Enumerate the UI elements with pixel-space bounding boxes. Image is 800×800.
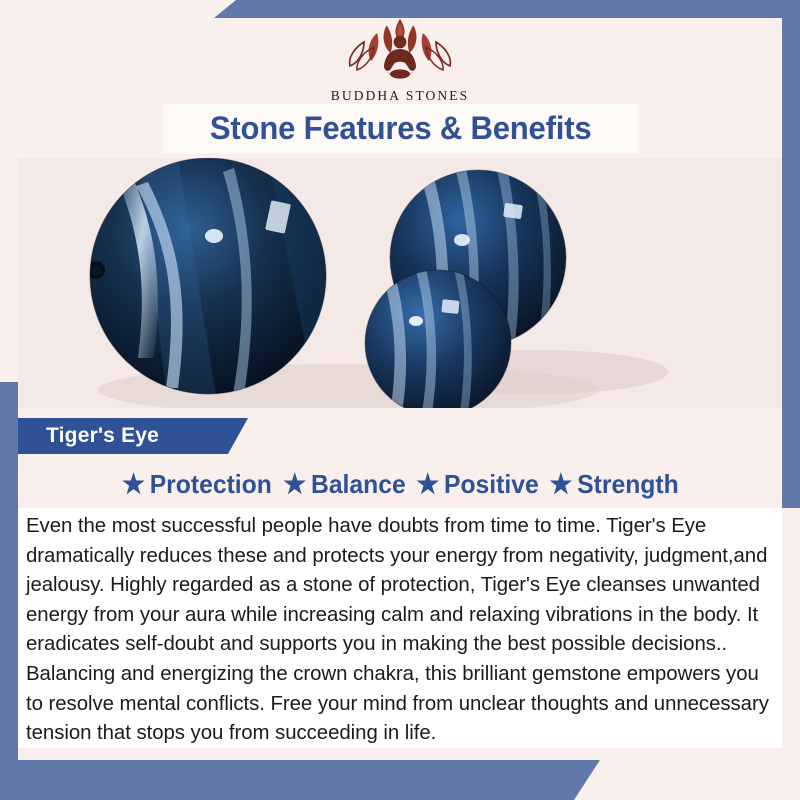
- star-icon: ★: [283, 471, 306, 498]
- right-border-accent: [782, 0, 800, 508]
- benefits-row: ★ Protection ★ Balance ★ Positive ★ Stre…: [18, 464, 782, 504]
- stone-photo: [18, 158, 782, 408]
- header: BUDDHA STONES Stone Features & Benefits: [0, 0, 800, 170]
- star-icon: ★: [122, 471, 145, 498]
- description-text: Even the most successful people have dou…: [26, 512, 776, 749]
- benefit-item: ★ Balance: [283, 469, 406, 500]
- benefit-label: Balance: [311, 469, 406, 500]
- stone-name-label: Tiger's Eye: [18, 424, 159, 448]
- left-border-accent: [0, 382, 18, 800]
- infographic-page: BUDDHA STONES Stone Features & Benefits: [0, 0, 800, 800]
- star-icon: ★: [416, 471, 439, 498]
- benefit-item: ★ Protection: [122, 469, 272, 500]
- brand-name: BUDDHA STONES: [270, 88, 530, 104]
- description-panel: Even the most successful people have dou…: [18, 508, 782, 748]
- benefit-label: Positive: [444, 469, 539, 500]
- page-title: Stone Features & Benefits: [210, 110, 592, 147]
- brand-logo: BUDDHA STONES: [270, 14, 530, 104]
- benefit-item: ★ Positive: [416, 469, 538, 500]
- stone-name-badge: Tiger's Eye: [18, 418, 248, 454]
- benefit-label: Strength: [577, 469, 679, 500]
- stone-photo-image: [18, 158, 782, 408]
- lotus-meditation-icon: [334, 14, 466, 86]
- bottom-border-accent: [0, 760, 600, 800]
- page-title-band: Stone Features & Benefits: [163, 104, 638, 153]
- top-border-accent: [214, 0, 800, 18]
- star-icon: ★: [549, 471, 572, 498]
- benefit-item: ★ Strength: [549, 469, 678, 500]
- benefit-label: Protection: [150, 469, 272, 500]
